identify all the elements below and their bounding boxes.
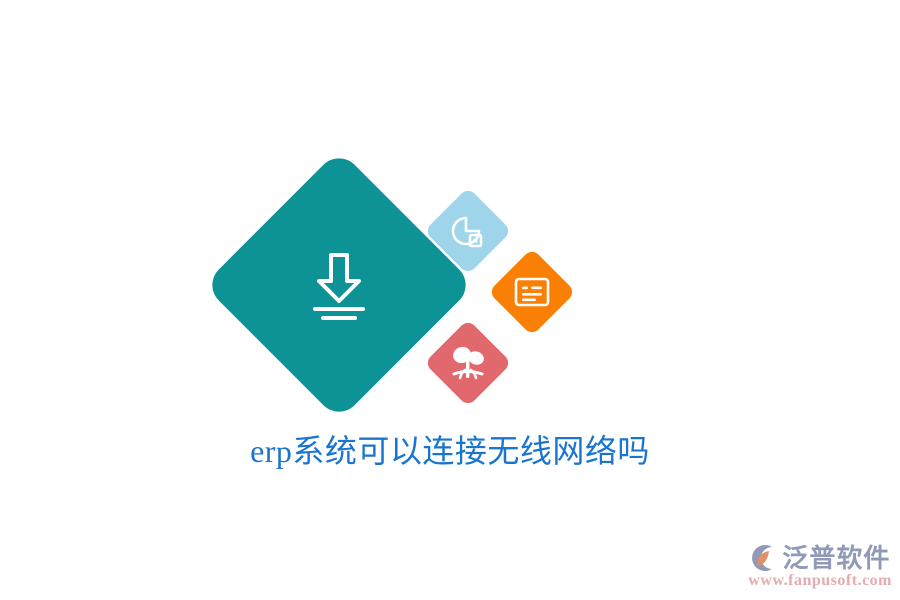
sprout-icon [449,345,487,381]
page-title: erp系统可以连接无线网络吗 [0,428,900,474]
watermark: 泛普软件 www.fanpusoft.com [746,542,892,590]
download-icon [301,247,377,323]
card-icon [514,277,550,307]
fanpu-logo-icon [746,542,778,574]
diamond-tile-card [488,248,576,336]
watermark-url: www.fanpusoft.com [748,572,892,590]
pie-chart-icon [451,214,485,248]
page-canvas: erp系统可以连接无线网络吗 泛普软件 www.fanpusoft.com [0,0,900,600]
diamond-icon-cluster [0,0,900,430]
watermark-brand-row: 泛普软件 [746,542,890,574]
watermark-brand-name: 泛普软件 [782,543,890,573]
diamond-tile-sprout [424,319,512,407]
diamond-tile-download [203,149,475,421]
